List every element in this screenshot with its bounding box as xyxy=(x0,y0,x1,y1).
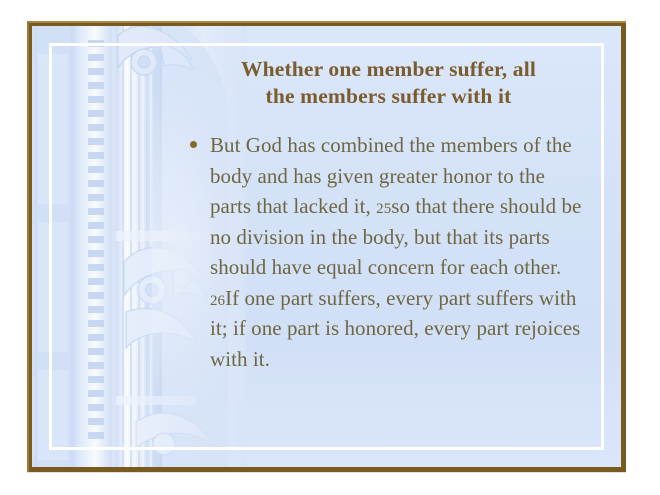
slide-body: But God has combined the members of the … xyxy=(66,130,587,374)
frame-bevel-left xyxy=(27,21,29,472)
bullet-dot-icon xyxy=(190,141,197,148)
slide-title: Whether one member suffer, all the membe… xyxy=(66,56,587,110)
slide-title-line-1: Whether one member suffer, all xyxy=(241,57,536,81)
slide-canvas: Whether one member suffer, all the membe… xyxy=(32,26,621,467)
bullet-list-item: But God has combined the members of the … xyxy=(188,130,585,374)
frame-bevel-top xyxy=(27,21,626,23)
verse-number-26: 26 xyxy=(210,293,225,309)
slide-content: Whether one member suffer, all the membe… xyxy=(32,26,621,467)
slide-title-line-2: the members suffer with it xyxy=(266,84,512,108)
bullet-item-text: But God has combined the members of the … xyxy=(210,130,585,374)
scripture-text-part-3: If one part suffers, every part suffers … xyxy=(210,286,580,371)
verse-number-25: 25 xyxy=(376,201,391,217)
slide-frame: Whether one member suffer, all the membe… xyxy=(27,21,626,472)
